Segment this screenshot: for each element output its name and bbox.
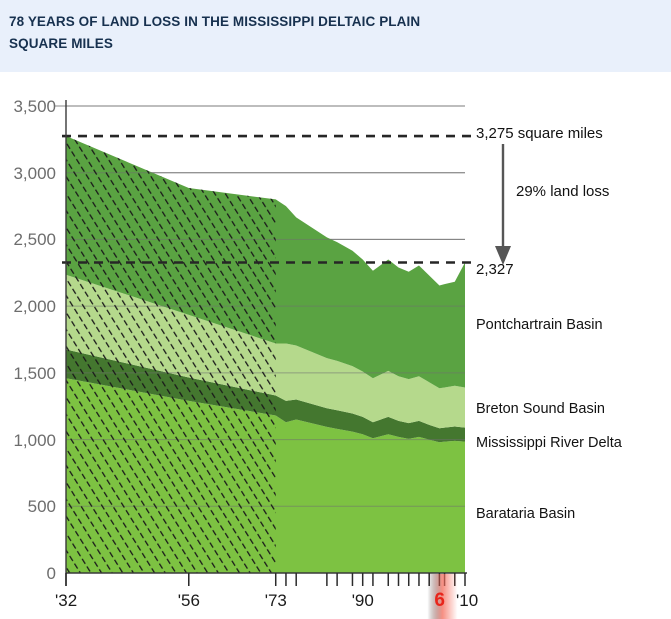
y-tick-500: 500 <box>0 498 56 515</box>
annotation-start-value: 3,275 square miles <box>476 126 603 141</box>
y-tick-3000: 3,000 <box>0 165 56 182</box>
y-tick-0: 0 <box>0 565 56 582</box>
chart-container: 3,500 3,000 2,500 2,000 1,500 1,000 500 … <box>0 72 671 619</box>
legend-label-breton-sound-basin: Breton Sound Basin <box>476 402 605 417</box>
y-tick-1000: 1,000 <box>0 432 56 449</box>
x-tick-1956: '56 <box>178 592 200 609</box>
annotation-end-value: 2,327 <box>476 262 514 277</box>
x-tick-2010: '10 <box>456 592 478 609</box>
legend-label-barataria-basin: Barataria Basin <box>476 507 575 522</box>
y-tick-2000: 2,000 <box>0 298 56 315</box>
y-tick-2500: 2,500 <box>0 231 56 248</box>
hurricane-marker-icon: 6 <box>434 591 445 610</box>
legend-label-pontchartrain-basin: Pontchartrain Basin <box>476 318 603 333</box>
legend-label-mississippi-river-delta: Mississippi River Delta <box>476 436 622 451</box>
x-tick-1973: '73 <box>265 592 287 609</box>
annotation-loss-percent: 29% land loss <box>516 184 609 199</box>
page-title-line-2: SQUARE MILES <box>9 33 671 55</box>
x-tick-1990: '90 <box>352 592 374 609</box>
x-tick-1932: '32 <box>55 592 77 609</box>
y-tick-3500: 3,500 <box>0 98 56 115</box>
page-title-line-1: 78 YEARS OF LAND LOSS IN THE MISSISSIPPI… <box>9 11 671 33</box>
y-tick-1500: 1,500 <box>0 365 56 382</box>
area-chart-plot <box>0 72 671 619</box>
chart-header: 78 YEARS OF LAND LOSS IN THE MISSISSIPPI… <box>0 0 671 72</box>
